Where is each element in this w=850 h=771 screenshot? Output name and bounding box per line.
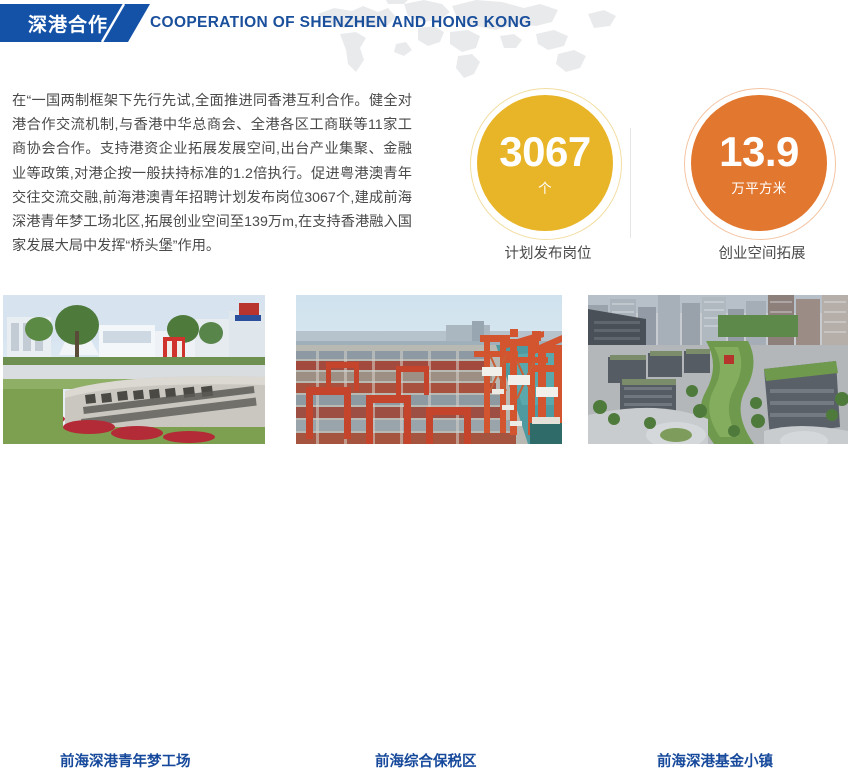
page-header: 深港合作 COOPERATION OF SHENZHEN AND HONG KO… xyxy=(0,0,850,78)
stat-disc: 13.9 万平方米 xyxy=(691,95,827,231)
stat-value: 3067 xyxy=(499,131,590,173)
fund-town-aerial-photo[interactable] xyxy=(588,295,848,444)
stat-card-jobs: 3067 个 计划发布岗位 xyxy=(458,88,638,268)
photo-caption-2: 前海综合保税区 xyxy=(375,750,477,771)
stat-unit: 万平方米 xyxy=(731,182,786,196)
photo-gallery: 前海深港青年梦工场 前海综合保税区 前海深港基金小镇 xyxy=(0,295,850,445)
stat-caption: 创业空间拓展 xyxy=(672,242,850,263)
stat-unit: 个 xyxy=(538,182,552,196)
stat-disc: 3067 个 xyxy=(477,95,613,231)
section-tag: 深港合作 xyxy=(0,4,150,42)
section-tag-label: 深港合作 xyxy=(14,4,122,42)
body-paragraph: 在“一国两制框架下先行先试,全面推进同香港互利合作。健全对港合作交流机制,与香港… xyxy=(12,89,412,258)
statistics-group: 3067 个 计划发布岗位 13.9 万平方米 创业空间拓展 xyxy=(440,88,850,268)
container-port-photo[interactable] xyxy=(296,295,562,444)
stat-caption: 计划发布岗位 xyxy=(458,242,638,263)
qianhai-youth-hub-photo[interactable] xyxy=(3,295,265,444)
photo-caption-1: 前海深港青年梦工场 xyxy=(60,750,191,771)
page-title: COOPERATION OF SHENZHEN AND HONG KONG xyxy=(150,0,532,46)
stat-value: 13.9 xyxy=(719,131,799,173)
photo-caption-3: 前海深港基金小镇 xyxy=(657,750,773,771)
stat-card-space: 13.9 万平方米 创业空间拓展 xyxy=(672,88,850,268)
